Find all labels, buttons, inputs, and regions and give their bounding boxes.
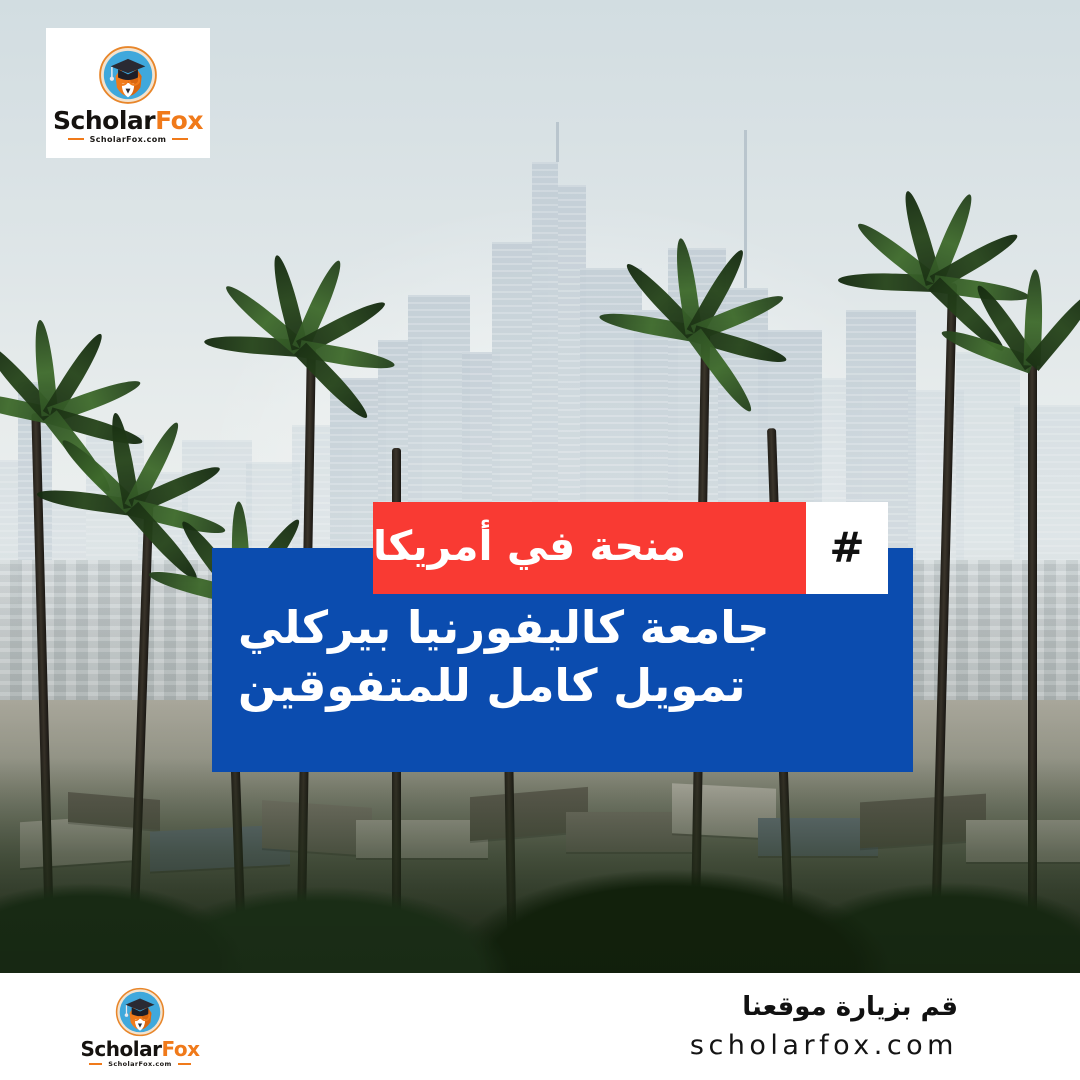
brand-logo-badge[interactable]: ScholarFox ScholarFox.com (46, 28, 210, 158)
category-label: منحة في أمريكا (373, 526, 686, 567)
wordmark-scholar: Scholar (53, 106, 155, 135)
social-post-card: ScholarFox ScholarFox.com جامعة كاليفورن… (0, 0, 1080, 1080)
footer-cta-text: قم بزيارة موقعنا (538, 991, 958, 1024)
hash-icon: # (829, 527, 864, 569)
fox-graduate-logo-icon (114, 986, 166, 1038)
brand-tagline-row: ScholarFox.com (68, 135, 189, 144)
wordmark-fox: Fox (161, 1037, 199, 1061)
wordmark-fox: Fox (155, 106, 203, 135)
fox-graduate-logo-icon (97, 44, 159, 106)
brand-tagline: ScholarFox.com (90, 135, 167, 144)
brand-tagline: ScholarFox.com (108, 1060, 171, 1068)
headline-red-block: منحة في أمريكا (373, 502, 806, 594)
brand-wordmark: ScholarFox (81, 1039, 200, 1059)
dash-left (89, 1063, 102, 1065)
footer-website-url[interactable]: scholarfox.com (538, 1028, 958, 1063)
footer-cta: قم بزيارة موقعنا scholarfox.com (538, 991, 958, 1063)
footer-bar: ScholarFox ScholarFox.com قم بزيارة موقع… (0, 973, 1080, 1080)
wordmark-scholar: Scholar (81, 1037, 162, 1061)
brand-wordmark: ScholarFox (53, 108, 203, 133)
headline-title-line-2: تمويل كامل للمتفوقين (238, 657, 746, 716)
dash-right (172, 138, 188, 140)
dash-right (178, 1063, 191, 1065)
headline-title-line-1: جامعة كاليفورنيا بيركلي (238, 599, 770, 658)
footer-brand-logo[interactable]: ScholarFox ScholarFox.com (88, 981, 192, 1073)
brand-tagline-row: ScholarFox.com (89, 1060, 190, 1068)
dash-left (68, 138, 84, 140)
hashtag-box: # (806, 502, 888, 594)
